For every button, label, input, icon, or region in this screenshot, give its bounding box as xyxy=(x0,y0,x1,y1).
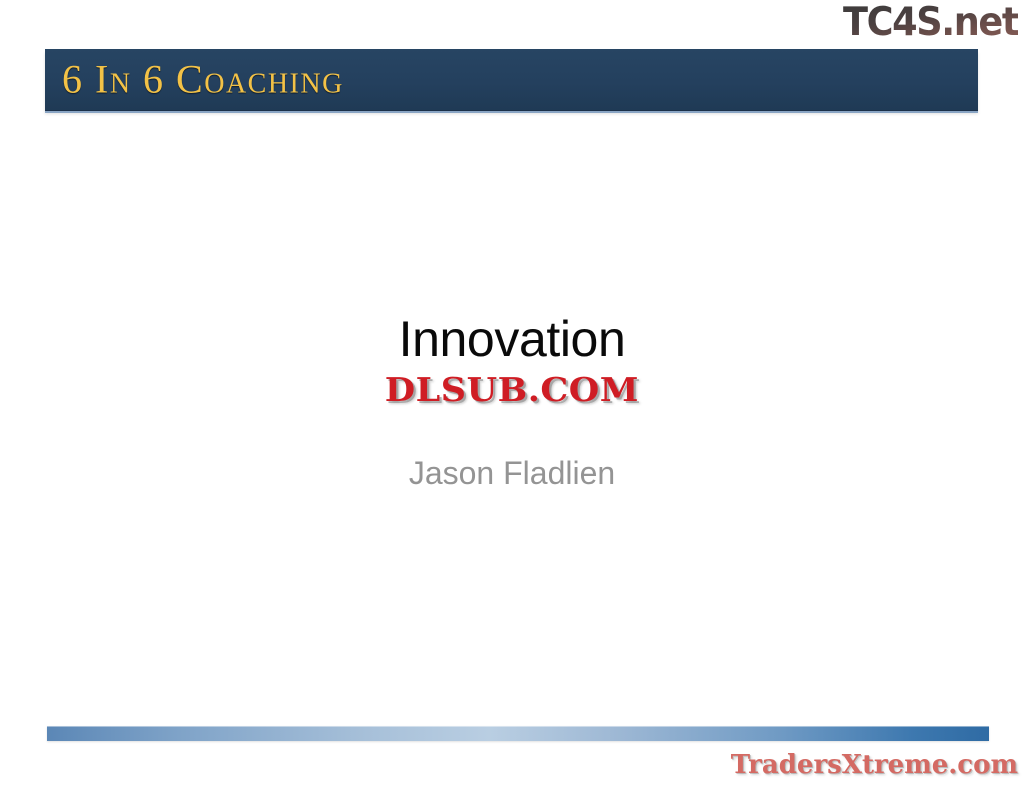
dlsub-watermark-text: DLSUB.COM xyxy=(385,372,639,408)
dlsub-watermark: DLSUB.COM xyxy=(0,372,1024,408)
title-block: Innovation xyxy=(0,310,1024,368)
presentation-slide: TC4S.net 6 In 6 Coaching Innovation DLSU… xyxy=(0,0,1024,791)
subtitle-block: Jason Fladlien xyxy=(0,453,1024,493)
slide-subtitle-author: Jason Fladlien xyxy=(0,453,1024,493)
tc4s-brand-logo: TC4S.net xyxy=(838,1,1018,45)
slide-header-banner: 6 In 6 Coaching xyxy=(45,49,978,110)
header-banner-title: 6 In 6 Coaching xyxy=(62,55,344,102)
footer-accent-bar xyxy=(47,726,989,741)
tradersxtreme-brand-text: TradersXtreme.com xyxy=(731,748,1018,782)
slide-title: Innovation xyxy=(0,310,1024,368)
tradersxtreme-brand-logo: TradersXtreme.com xyxy=(706,748,1018,784)
